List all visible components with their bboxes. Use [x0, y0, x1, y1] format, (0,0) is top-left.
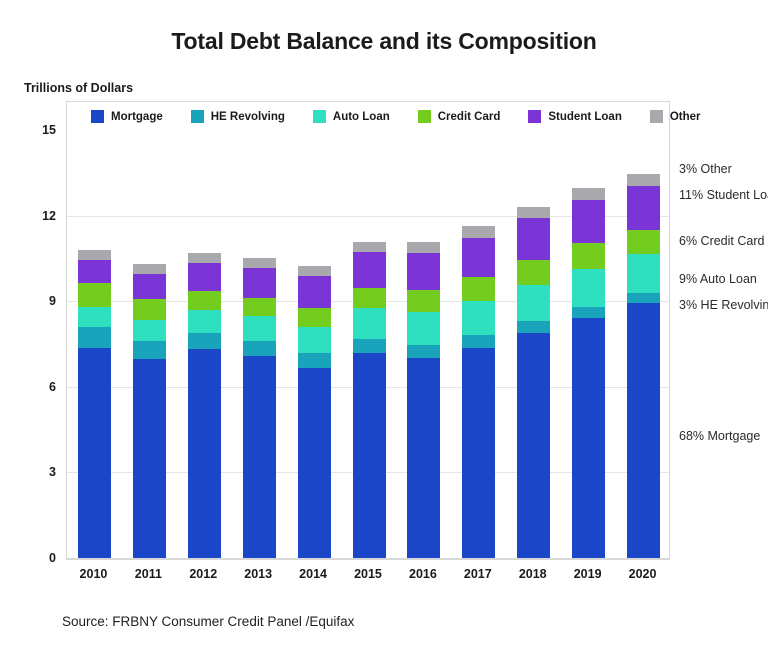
bar-segment-credit-card[interactable] [572, 243, 605, 270]
bar-segment-he-revolving[interactable] [407, 345, 440, 358]
bar-segment-auto-loan[interactable] [627, 254, 660, 293]
legend-item-credit-card[interactable]: Credit Card [418, 110, 501, 123]
bar-segment-auto-loan[interactable] [462, 301, 495, 336]
annotation-other: 3% Other [679, 162, 732, 176]
y-axis-tick-label: 12 [4, 209, 56, 223]
bar-segment-auto-loan[interactable] [572, 269, 605, 307]
legend-item-other[interactable]: Other [650, 110, 701, 123]
legend-swatch-icon [528, 110, 541, 123]
bar-segment-auto-loan[interactable] [188, 310, 221, 332]
y-axis-tick-label: 9 [4, 294, 56, 308]
legend-item-student-loan[interactable]: Student Loan [528, 110, 621, 123]
plot-area [66, 131, 670, 560]
legend-item-label: Credit Card [438, 111, 501, 123]
bar-segment-other[interactable] [517, 207, 550, 218]
bar-stack[interactable] [298, 266, 331, 558]
y-axis-tick-label: 0 [4, 551, 56, 565]
x-axis-tick-label: 2013 [231, 567, 286, 581]
annotation-credit-card: 6% Credit Card [679, 234, 764, 248]
bar-segment-auto-loan[interactable] [353, 308, 386, 338]
bar-segment-mortgage[interactable] [353, 353, 386, 558]
bar-segment-other[interactable] [353, 242, 386, 253]
x-axis-tick-label: 2015 [341, 567, 396, 581]
bar-segment-student-loan[interactable] [188, 263, 221, 291]
x-axis-tick-label: 2011 [121, 567, 176, 581]
bar-segment-he-revolving[interactable] [572, 307, 605, 318]
bar-segment-auto-loan[interactable] [243, 316, 276, 341]
bar-segment-credit-card[interactable] [243, 298, 276, 317]
x-axis-tick-label: 2014 [286, 567, 341, 581]
x-axis-tick-label: 2012 [176, 567, 231, 581]
legend-item-auto-loan[interactable]: Auto Loan [313, 110, 390, 123]
legend-swatch-icon [313, 110, 326, 123]
x-axis-line [67, 558, 669, 559]
legend-item-label: HE Revolving [211, 111, 285, 123]
x-axis-tick-label: 2016 [395, 567, 450, 581]
bar-segment-student-loan[interactable] [462, 238, 495, 277]
y-axis-tick-label: 15 [4, 123, 56, 137]
bar-segment-other[interactable] [627, 174, 660, 186]
bar-segment-credit-card[interactable] [407, 290, 440, 312]
bar-segment-auto-loan[interactable] [133, 320, 166, 341]
bar-segment-credit-card[interactable] [78, 283, 111, 307]
bar-segment-mortgage[interactable] [572, 318, 605, 558]
legend-item-label: Auto Loan [333, 111, 390, 123]
bar-segment-he-revolving[interactable] [462, 335, 495, 348]
bar-segment-mortgage[interactable] [627, 303, 660, 558]
bar-stack[interactable] [353, 242, 386, 558]
bar-stack[interactable] [572, 188, 605, 558]
bar-segment-student-loan[interactable] [627, 186, 660, 230]
bar-segment-other[interactable] [133, 264, 166, 274]
bar-stack[interactable] [407, 242, 440, 558]
bar-segment-he-revolving[interactable] [517, 321, 550, 333]
bar-segment-auto-loan[interactable] [298, 327, 331, 353]
bar-segment-he-revolving[interactable] [243, 341, 276, 356]
bar-segment-student-loan[interactable] [133, 274, 166, 299]
bar-segment-credit-card[interactable] [627, 230, 660, 253]
bar-segment-auto-loan[interactable] [407, 312, 440, 345]
bar-segment-mortgage[interactable] [243, 356, 276, 558]
bar-segment-mortgage[interactable] [407, 358, 440, 558]
legend-item-label: Student Loan [548, 111, 621, 123]
bar-segment-student-loan[interactable] [517, 218, 550, 260]
bar-stack[interactable] [517, 207, 550, 558]
x-axis-tick-label: 2020 [615, 567, 670, 581]
bar-segment-mortgage[interactable] [78, 348, 111, 558]
legend-item-label: Other [670, 111, 701, 123]
bar-stack[interactable] [462, 226, 495, 558]
bar-segment-credit-card[interactable] [353, 288, 386, 309]
bar-segment-he-revolving[interactable] [627, 293, 660, 303]
bar-segment-auto-loan[interactable] [78, 307, 111, 327]
x-axis-tick-label: 2018 [505, 567, 560, 581]
bar-segment-he-revolving[interactable] [298, 353, 331, 368]
bar-segment-other[interactable] [407, 242, 440, 253]
bar-segment-he-revolving[interactable] [188, 333, 221, 350]
bar-stack[interactable] [243, 258, 276, 558]
bar-segment-mortgage[interactable] [298, 368, 331, 558]
bar-segment-he-revolving[interactable] [353, 339, 386, 353]
bar-stack[interactable] [188, 253, 221, 558]
bar-segment-auto-loan[interactable] [517, 285, 550, 321]
bar-segment-credit-card[interactable] [188, 291, 221, 310]
legend-swatch-icon [191, 110, 204, 123]
page-title: Total Debt Balance and its Composition [0, 28, 768, 55]
bar-segment-mortgage[interactable] [517, 333, 550, 558]
legend-item-label: Mortgage [111, 111, 163, 123]
bar-stack[interactable] [627, 174, 660, 558]
bar-segment-other[interactable] [243, 258, 276, 268]
x-axis-tick-label: 2017 [450, 567, 505, 581]
bar-segment-he-revolving[interactable] [78, 327, 111, 348]
legend-swatch-icon [650, 110, 663, 123]
annotation-student-loan: 11% Student Loan [679, 188, 768, 202]
bar-segment-other[interactable] [78, 250, 111, 261]
chart-legend: MortgageHE RevolvingAuto LoanCredit Card… [66, 101, 670, 131]
y-axis-tick-label: 6 [4, 380, 56, 394]
annotation-auto-loan: 9% Auto Loan [679, 272, 757, 286]
source-note: Source: FRBNY Consumer Credit Panel /Equ… [62, 614, 354, 629]
bar-segment-he-revolving[interactable] [133, 341, 166, 359]
annotation-he-revolving: 3% HE Revolving [679, 298, 768, 312]
x-axis-tick-label: 2010 [66, 567, 121, 581]
bar-segment-student-loan[interactable] [243, 268, 276, 297]
bar-segment-credit-card[interactable] [517, 260, 550, 285]
bar-segment-other[interactable] [298, 266, 331, 276]
bar-segment-other[interactable] [462, 226, 495, 237]
bar-segment-other[interactable] [188, 253, 221, 263]
legend-swatch-icon [418, 110, 431, 123]
bar-segment-credit-card[interactable] [133, 299, 166, 320]
bar-segment-credit-card[interactable] [298, 308, 331, 327]
y-axis-unit-label: Trillions of Dollars [24, 81, 133, 95]
y-axis-tick-label: 3 [4, 465, 56, 479]
bar-segment-mortgage[interactable] [462, 348, 495, 558]
bar-segment-student-loan[interactable] [407, 253, 440, 290]
bar-segment-other[interactable] [572, 188, 605, 200]
bar-segment-student-loan[interactable] [78, 260, 111, 283]
bar-segment-credit-card[interactable] [462, 277, 495, 301]
legend-swatch-icon [91, 110, 104, 123]
bar-segment-student-loan[interactable] [353, 252, 386, 287]
bar-segment-mortgage[interactable] [133, 359, 166, 558]
bar-segment-student-loan[interactable] [298, 276, 331, 308]
bar-stack[interactable] [133, 264, 166, 558]
legend-item-he-revolving[interactable]: HE Revolving [191, 110, 285, 123]
x-axis-tick-label: 2019 [560, 567, 615, 581]
legend-item-mortgage[interactable]: Mortgage [91, 110, 163, 123]
bar-segment-student-loan[interactable] [572, 200, 605, 243]
bar-stack[interactable] [78, 250, 111, 558]
bar-segment-mortgage[interactable] [188, 349, 221, 558]
annotation-mortgage: 68% Mortgage [679, 429, 760, 443]
